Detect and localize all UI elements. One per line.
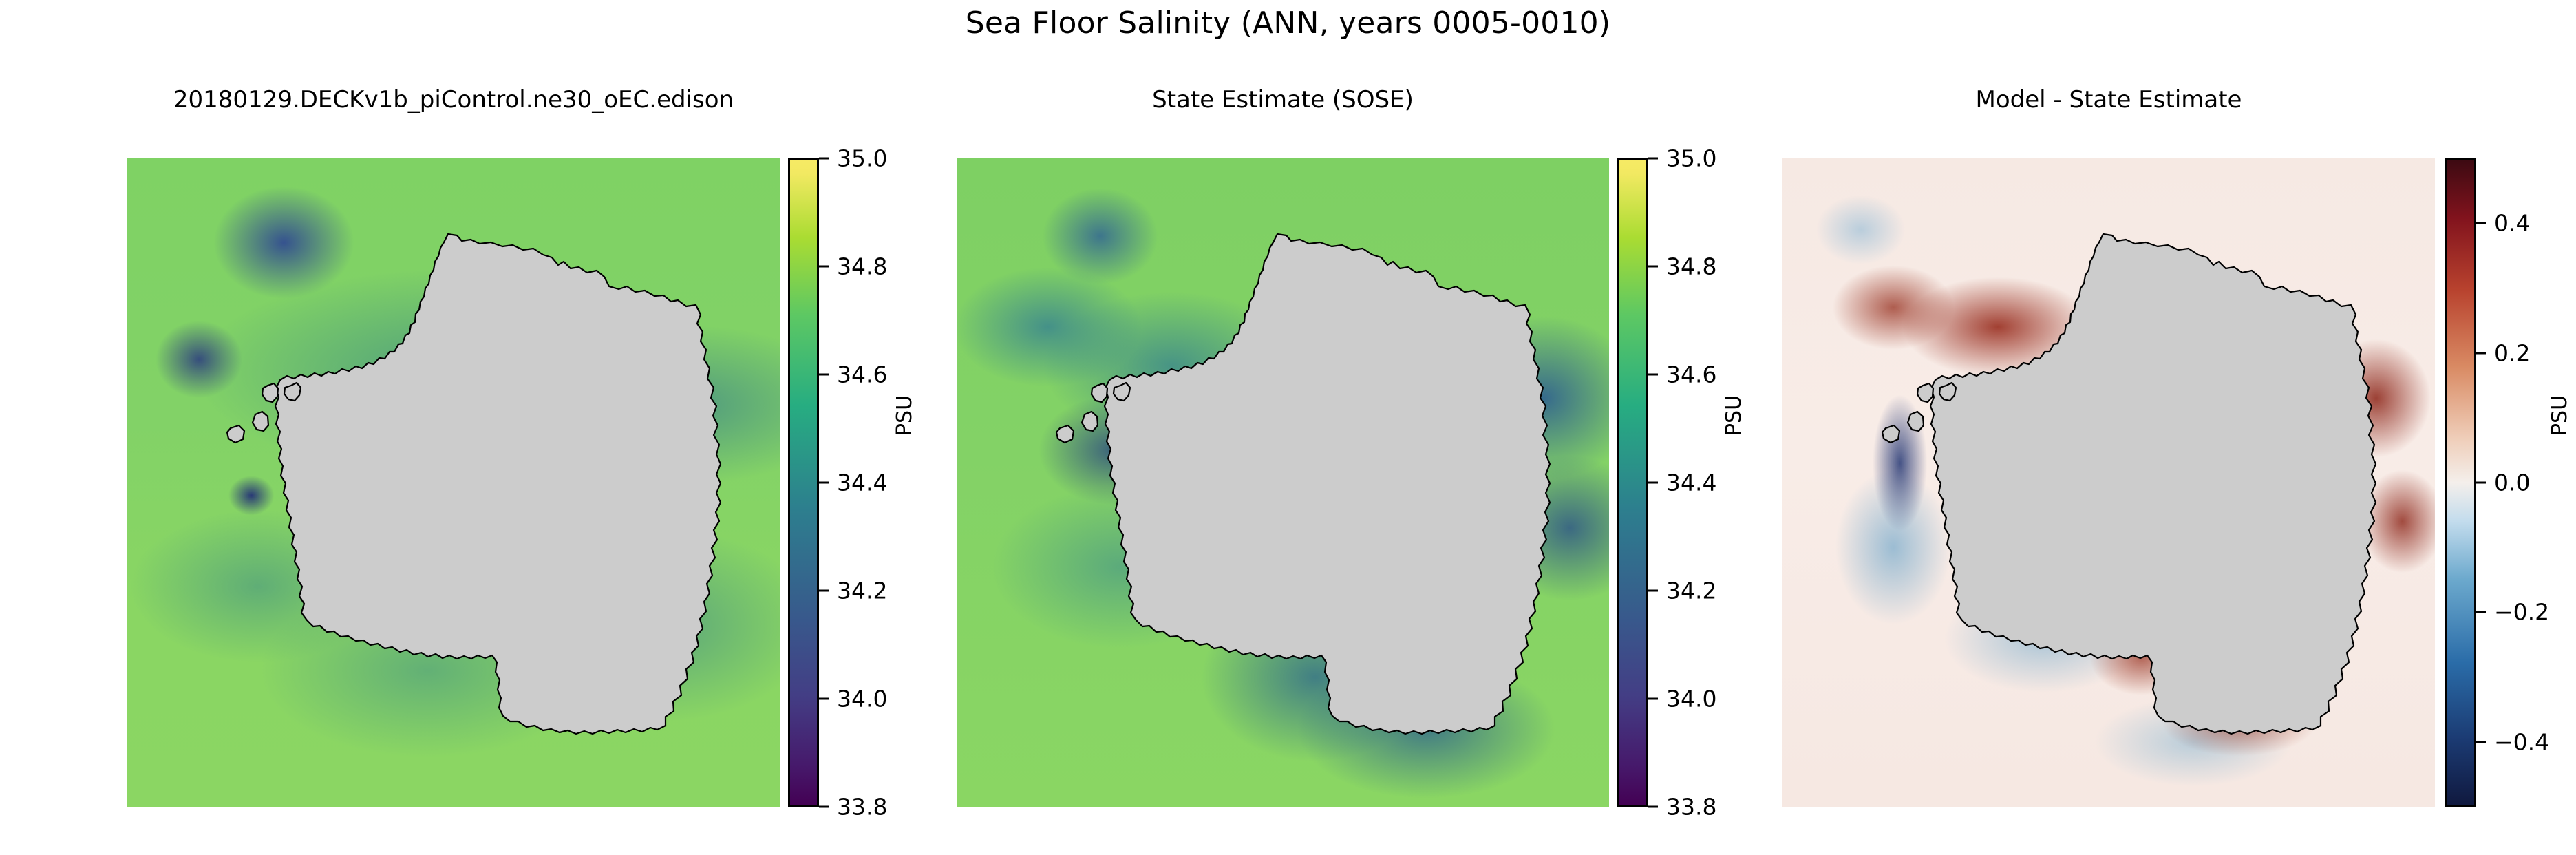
tick-mark: [819, 806, 829, 808]
colorbar-tick: 34.6: [1648, 361, 1716, 388]
tick-label: 0.2: [2494, 339, 2530, 366]
colorbar-tick: 0.0: [2476, 469, 2530, 496]
colorbar-tick: 34.2: [819, 578, 887, 604]
tick-mark: [1648, 158, 1658, 160]
tick-mark: [1648, 698, 1658, 700]
tick-label: −0.2: [2494, 599, 2549, 626]
colorbar-tick: 34.8: [1648, 253, 1716, 280]
colorbar-tick: 33.8: [1648, 794, 1716, 821]
antarctica-landmass-model: [127, 158, 780, 807]
figure-title: Sea Floor Salinity (ANN, years 0005-0010…: [0, 6, 2576, 41]
panel-title-sose: State Estimate (SOSE): [957, 86, 1609, 114]
panel-title-model: 20180129.DECKv1b_piControl.ne30_oEC.edis…: [127, 86, 780, 114]
tick-label: 34.6: [1666, 361, 1716, 388]
map-panel-model: [127, 158, 780, 807]
tick-label: 33.8: [1666, 794, 1716, 821]
colorbar-tick: 35.0: [819, 145, 887, 172]
tick-mark: [1648, 482, 1658, 484]
tick-label: 0.4: [2494, 210, 2530, 237]
colorbar-tick: 34.4: [1648, 469, 1716, 496]
tick-label: 34.8: [837, 253, 887, 280]
offshore-island-path: [227, 425, 244, 443]
figure-canvas: Sea Floor Salinity (ANN, years 0005-0010…: [0, 0, 2576, 855]
tick-label: 34.4: [837, 469, 887, 496]
tick-mark: [819, 590, 829, 592]
panel-title-difference: Model - State Estimate: [1782, 86, 2435, 114]
colorbar-tick: 34.0: [1648, 686, 1716, 712]
colorbar-unit-difference: PSU: [2548, 395, 2572, 436]
tick-mark: [1648, 806, 1658, 808]
colorbar-unit-model: PSU: [893, 395, 917, 436]
tick-label: 34.4: [1666, 469, 1716, 496]
antarctica-landmass-difference: [1782, 158, 2435, 807]
tick-label: 34.0: [837, 686, 887, 712]
colorbar-difference: [2445, 158, 2476, 807]
tick-label: 0.0: [2494, 469, 2530, 496]
tick-mark: [1648, 374, 1658, 376]
map-panel-difference: [1782, 158, 2435, 807]
tick-mark: [1648, 266, 1658, 268]
tick-mark: [1648, 590, 1658, 592]
colorbar-tick: −0.4: [2476, 728, 2549, 755]
tick-mark: [819, 374, 829, 376]
antarctica-mainland-path: [1930, 234, 2376, 734]
colorbar-tick: 35.0: [1648, 145, 1716, 172]
tick-label: 34.2: [837, 578, 887, 604]
offshore-island-path: [1056, 425, 1074, 443]
tick-label: 35.0: [1666, 145, 1716, 172]
colorbar-tick: 34.0: [819, 686, 887, 712]
antarctica-landmass-sose: [957, 158, 1609, 807]
colorbar-tick: 0.2: [2476, 339, 2530, 366]
antarctica-mainland-path: [275, 234, 721, 734]
tick-mark: [2476, 352, 2486, 354]
colorbar-tick: 0.4: [2476, 210, 2530, 237]
colorbar-tick: 34.4: [819, 469, 887, 496]
antarctica-mainland-path: [1105, 234, 1550, 734]
offshore-island-path: [1882, 425, 1899, 443]
colorbar-tick: −0.2: [2476, 599, 2549, 626]
tick-mark: [819, 266, 829, 268]
tick-mark: [819, 158, 829, 160]
tick-mark: [819, 698, 829, 700]
tick-label: 34.2: [1666, 578, 1716, 604]
tick-label: 33.8: [837, 794, 887, 821]
tick-label: 34.0: [1666, 686, 1716, 712]
tick-label: −0.4: [2494, 728, 2549, 755]
tick-mark: [2476, 741, 2486, 743]
colorbar-sose: [1617, 158, 1648, 807]
colorbar-model: [788, 158, 819, 807]
colorbar-unit-sose: PSU: [1722, 395, 1746, 436]
colorbar-tick: 34.2: [1648, 578, 1716, 604]
colorbar-tick: 34.8: [819, 253, 887, 280]
colorbar-tick: 33.8: [819, 794, 887, 821]
map-panel-sose: [957, 158, 1609, 807]
tick-mark: [2476, 482, 2486, 484]
tick-mark: [819, 482, 829, 484]
colorbar-tick: 34.6: [819, 361, 887, 388]
tick-label: 35.0: [837, 145, 887, 172]
tick-label: 34.6: [837, 361, 887, 388]
tick-label: 34.8: [1666, 253, 1716, 280]
tick-mark: [2476, 611, 2486, 613]
tick-mark: [2476, 222, 2486, 224]
